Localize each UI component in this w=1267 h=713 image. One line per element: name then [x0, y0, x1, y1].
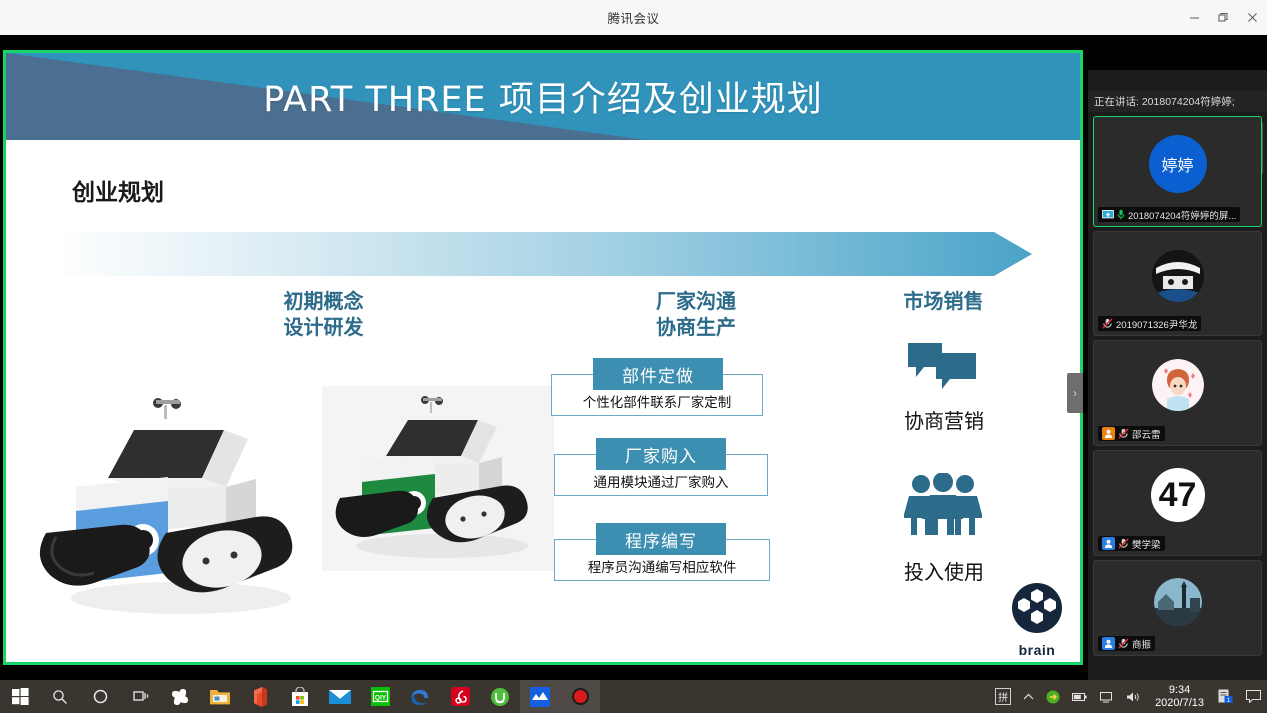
avatar-initials: 婷婷	[1161, 152, 1193, 176]
sogou-icon	[170, 687, 190, 707]
notification-button[interactable]	[1240, 680, 1267, 713]
green-arrow-icon	[1046, 690, 1060, 704]
participant-name: 樊学梁	[1132, 537, 1161, 551]
clock-time: 9:34	[1155, 684, 1204, 697]
search-button[interactable]	[40, 680, 80, 713]
chevron-right-icon: ›	[1073, 386, 1077, 400]
right-item-2-label: 投入使用	[864, 556, 1024, 585]
store-bag-icon	[291, 687, 309, 707]
close-icon	[1247, 12, 1258, 23]
app-file-explorer[interactable]	[200, 680, 240, 713]
participant-name: 邵云雷	[1132, 427, 1161, 441]
participant-tile[interactable]: 婷婷 2018074204符婷婷的屏...	[1093, 116, 1262, 227]
start-button[interactable]	[0, 680, 40, 713]
svg-text:QIY: QIY	[374, 694, 386, 701]
cortana-button[interactable]	[80, 680, 120, 713]
mic-muted-icon	[1102, 318, 1113, 329]
participant-footer: 2019071326尹华龙	[1098, 316, 1201, 331]
folder-icon	[209, 688, 231, 706]
avatar: 47	[1151, 468, 1205, 522]
minimize-icon	[1189, 12, 1200, 23]
shared-slide: PART THREE 项目介绍及创业规划 创业规划	[6, 53, 1080, 662]
speaking-indicator: 正在讲话: 2018074204符婷婷;	[1088, 90, 1267, 112]
restore-button[interactable]	[1209, 0, 1238, 35]
mic-muted-icon	[1118, 638, 1129, 649]
mic-muted-icon	[1118, 428, 1129, 439]
edge-icon	[410, 687, 430, 707]
process-arrow-bar	[64, 230, 1032, 278]
participant-footer: 商振	[1098, 636, 1155, 651]
battery-button[interactable]	[1066, 680, 1094, 713]
app-uc-browser[interactable]	[480, 680, 520, 713]
avatar-photo-anime	[1152, 359, 1204, 411]
user-orange-icon	[1102, 427, 1115, 440]
process-box-3-head: 程序编写	[596, 523, 726, 555]
brain-logo: brain	[1006, 580, 1068, 658]
window-controls	[1180, 0, 1267, 35]
robot-image-blue	[16, 383, 324, 628]
action-center-button[interactable]: 1	[1212, 680, 1240, 713]
participant-footer: 邵云雷	[1098, 426, 1165, 441]
volume-button[interactable]	[1120, 680, 1147, 713]
app-mail[interactable]	[320, 680, 360, 713]
iqiyi-icon: QIY	[371, 687, 390, 706]
restore-icon	[1218, 12, 1229, 23]
slide-banner-title: PART THREE 项目介绍及创业规划	[6, 53, 1080, 140]
app-recorder[interactable]	[560, 680, 600, 713]
slide-banner: PART THREE 项目介绍及创业规划	[6, 53, 1080, 140]
battery-icon	[1072, 692, 1088, 702]
windows-taskbar: QIY	[0, 680, 1267, 713]
column-heading-1: 初期概念 设计研发	[221, 289, 426, 341]
clock-date: 2020/7/13	[1155, 697, 1204, 710]
column-heading-2: 厂家沟通 协商生产	[596, 289, 796, 341]
action-center-icon: 1	[1218, 689, 1234, 704]
record-circle-icon	[571, 687, 590, 706]
app-sogou[interactable]	[160, 680, 200, 713]
clock[interactable]: 9:34 2020/7/13	[1147, 684, 1212, 710]
close-button[interactable]	[1238, 0, 1267, 35]
chevron-up-icon	[1023, 693, 1034, 701]
column-heading-1-line1: 初期概念	[221, 289, 426, 315]
user-blue-icon	[1102, 537, 1115, 550]
right-item-1-label: 协商营销	[864, 405, 1024, 434]
column-heading-1-line2: 设计研发	[221, 315, 426, 341]
show-hidden-icons-button[interactable]	[1017, 680, 1040, 713]
column-heading-3: 市场销售	[846, 289, 1041, 315]
avatar	[1152, 359, 1204, 411]
brain-hex-circle-icon	[1009, 580, 1065, 636]
sidebar-collapse-handle[interactable]: ›	[1067, 373, 1083, 413]
mic-on-icon	[1117, 209, 1125, 220]
netease-music-icon	[451, 687, 470, 706]
cortana-circle-icon	[93, 689, 108, 704]
brain-logo-text: brain	[1006, 642, 1068, 658]
participant-tile[interactable]: 2019071326尹华龙	[1093, 231, 1262, 336]
participant-name: 2018074204符婷婷的屏...	[1128, 208, 1236, 222]
avatar: 婷婷	[1149, 135, 1207, 193]
robot-image-green	[322, 386, 554, 571]
ime-icon: 拼	[995, 688, 1011, 705]
three-people-icon	[904, 473, 982, 535]
app-edge[interactable]	[400, 680, 440, 713]
process-box-2-head: 厂家购入	[596, 438, 726, 470]
user-blue-icon	[1102, 637, 1115, 650]
office-icon	[252, 687, 268, 707]
avatar	[1152, 250, 1204, 302]
tencent-meeting-icon	[530, 687, 550, 707]
chat-bubbles-icon	[906, 341, 978, 393]
column-heading-2-line2: 协商生产	[596, 315, 796, 341]
column-heading-3-line1: 市场销售	[846, 289, 1041, 315]
network-icon	[1100, 691, 1114, 703]
mic-muted-icon	[1118, 538, 1129, 549]
ime-indicator[interactable]: 拼	[989, 680, 1017, 713]
meeting-body: PART THREE 项目介绍及创业规划 创业规划	[0, 35, 1267, 680]
volume-icon	[1126, 691, 1141, 703]
app-qiy[interactable]: QIY	[360, 680, 400, 713]
speaking-indicator-text: 正在讲话: 2018074204符婷婷;	[1094, 94, 1235, 109]
avatar-number: 47	[1159, 478, 1197, 512]
participant-tile[interactable]: 商振	[1093, 560, 1262, 656]
avatar-photo-scenery	[1154, 578, 1202, 626]
participant-tile[interactable]: 邵云雷	[1093, 340, 1262, 446]
search-icon	[52, 689, 68, 705]
column-heading-2-line1: 厂家沟通	[596, 289, 796, 315]
title-bar: 腾讯会议	[0, 0, 1267, 35]
participant-footer: 2018074204符婷婷的屏...	[1098, 207, 1240, 222]
task-view-icon	[132, 690, 149, 704]
participant-footer: 樊学梁	[1098, 536, 1165, 551]
task-view-button[interactable]	[120, 680, 160, 713]
tencent-meeting-window: 腾讯会议	[0, 0, 1267, 713]
participant-tile[interactable]: 47 樊学梁	[1093, 450, 1262, 556]
app-tencent-meeting[interactable]	[520, 680, 560, 713]
participant-sidebar: 正在讲话: 2018074204符婷婷; 婷婷	[1088, 70, 1267, 713]
avatar	[1154, 578, 1202, 626]
app-office[interactable]	[240, 680, 280, 713]
process-box-1-head: 部件定做	[593, 358, 723, 390]
windows-logo-icon	[12, 688, 29, 705]
app-microsoft-store[interactable]	[280, 680, 320, 713]
mail-envelope-icon	[329, 689, 351, 705]
participant-name: 商振	[1132, 637, 1151, 651]
system-tray: 拼	[989, 680, 1267, 713]
participant-name: 2019071326尹华龙	[1116, 317, 1197, 331]
screen-share-icon	[1102, 210, 1114, 220]
notification-icon	[1246, 690, 1261, 703]
app-netease-music[interactable]	[440, 680, 480, 713]
uc-browser-icon	[490, 687, 510, 707]
minimize-button[interactable]	[1180, 0, 1209, 35]
shared-screen-frame: PART THREE 项目介绍及创业规划 创业规划	[3, 50, 1083, 665]
network-button[interactable]	[1094, 680, 1120, 713]
window-title: 腾讯会议	[607, 8, 659, 27]
avatar-photo-cartoon	[1152, 250, 1204, 302]
app-tray-icon[interactable]	[1040, 680, 1066, 713]
slide-section-heading: 创业规划	[72, 173, 164, 207]
